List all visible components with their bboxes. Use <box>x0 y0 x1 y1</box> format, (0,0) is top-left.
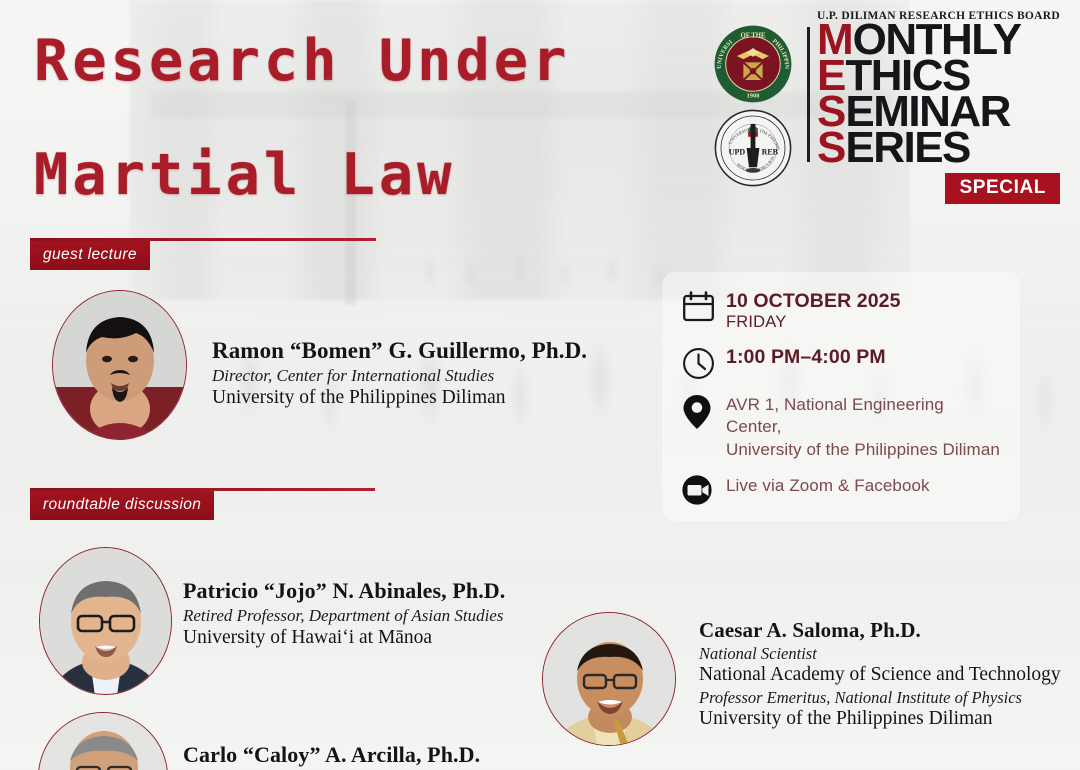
speaker-institution2-saloma: University of the Philippines Diliman <box>699 708 1074 730</box>
speaker-saloma-text: Caesar A. Saloma, Ph.D. National Scienti… <box>699 618 1074 730</box>
speaker-institution-saloma: National Academy of Science and Technolo… <box>699 664 1074 686</box>
poster-canvas: Research Under Martial Law OF THE 1908 <box>0 0 1080 770</box>
detail-row-date: 10 OCTOBER 2025 FRIDAY <box>682 290 1004 333</box>
speaker-guillermo-text: Ramon “Bomen” G. Guillermo, Ph.D. Direct… <box>212 338 632 409</box>
portrait-saloma <box>542 612 676 746</box>
location-pin-icon <box>682 393 726 430</box>
event-details-panel: 10 OCTOBER 2025 FRIDAY 1:00 PM–4:00 PM <box>662 272 1020 521</box>
detail-body-stream: Live via Zoom & Facebook <box>726 474 1004 497</box>
detail-body-venue: AVR 1, National Engineering Center, Univ… <box>726 393 1004 461</box>
svg-text:1908: 1908 <box>747 93 760 100</box>
speaker-role2-saloma: Professor Emeritus, National Institute o… <box>699 688 1074 708</box>
portrait-image-abinales <box>40 548 171 694</box>
portrait-image-guillermo <box>53 291 186 439</box>
mess-vertical-rule <box>807 27 810 162</box>
event-time: 1:00 PM–4:00 PM <box>726 347 1004 369</box>
event-date: 10 OCTOBER 2025 <box>726 291 1004 313</box>
detail-body-date: 10 OCTOBER 2025 FRIDAY <box>726 290 1004 333</box>
mess-row-series: S ERIES <box>817 131 1062 167</box>
portrait-guillermo <box>52 290 187 440</box>
video-camera-icon <box>682 474 726 505</box>
speaker-name-abinales: Patricio “Jojo” N. Abinales, Ph.D. <box>183 578 603 604</box>
title-line-2: Martial Law <box>34 146 570 206</box>
speaker-abinales-text: Patricio “Jojo” N. Abinales, Ph.D. Retir… <box>183 578 603 649</box>
detail-row-stream: Live via Zoom & Facebook <box>682 474 1004 505</box>
special-badge-wrap: SPECIAL <box>817 173 1062 204</box>
detail-row-venue: AVR 1, National Engineering Center, Univ… <box>682 393 1004 461</box>
detail-body-time: 1:00 PM–4:00 PM <box>726 346 1004 369</box>
special-badge: SPECIAL <box>945 173 1060 204</box>
speaker-institution-abinales: University of Hawaiʻi at Mānoa <box>183 627 603 649</box>
detail-row-time: 1:00 PM–4:00 PM <box>682 346 1004 380</box>
svg-text:UPD: UPD <box>729 147 746 156</box>
speaker-role-saloma: National Scientist <box>699 644 1074 664</box>
portrait-image-saloma <box>543 613 675 745</box>
upd-reb-seal: UPD REB UNIVERSITY OF THE PHILIPPINES DI… <box>713 108 793 188</box>
poster-title: Research Under Martial Law <box>34 32 570 206</box>
mess-initial-s2: S <box>817 131 845 165</box>
speaker-institution-guillermo: University of the Philippines Diliman <box>212 387 632 409</box>
guest-lecture-label: guest lecture <box>30 241 150 270</box>
speaker-role-abinales: Retired Professor, Department of Asian S… <box>183 606 603 626</box>
portrait-image-arcilla <box>39 713 167 770</box>
event-venue-line2: University of the Philippines Diliman <box>726 439 1004 461</box>
speaker-name-guillermo: Ramon “Bomen” G. Guillermo, Ph.D. <box>212 338 632 364</box>
portrait-abinales <box>39 547 172 695</box>
calendar-icon <box>682 290 726 322</box>
event-stream: Live via Zoom & Facebook <box>726 475 1004 497</box>
speaker-name-saloma: Caesar A. Saloma, Ph.D. <box>699 618 1074 643</box>
title-line-1: Research Under <box>34 32 570 92</box>
mess-logo-lockup: OF THE 1908 UNIVERSITY PHILIPPINES <box>713 10 1062 204</box>
up-seal: OF THE 1908 UNIVERSITY PHILIPPINES <box>713 24 793 104</box>
roundtable-label: roundtable discussion <box>30 491 214 520</box>
event-day: FRIDAY <box>726 313 1004 333</box>
clock-icon <box>682 346 726 380</box>
mess-word-series: ERIES <box>845 131 970 165</box>
speaker-name-arcilla: Carlo “Caloy” A. Arcilla, Ph.D. <box>183 742 603 768</box>
seal-group: OF THE 1908 UNIVERSITY PHILIPPINES <box>713 10 799 188</box>
event-venue-line1: AVR 1, National Engineering Center, <box>726 394 1004 439</box>
portrait-arcilla <box>38 712 168 770</box>
svg-text:OF THE: OF THE <box>740 33 766 40</box>
speaker-role-guillermo: Director, Center for International Studi… <box>212 366 632 386</box>
speaker-arcilla-text: Carlo “Caloy” A. Arcilla, Ph.D. <box>183 742 603 768</box>
mess-acronym-block: U.P. DILIMAN RESEARCH ETHICS BOARD M ONT… <box>803 10 1062 204</box>
